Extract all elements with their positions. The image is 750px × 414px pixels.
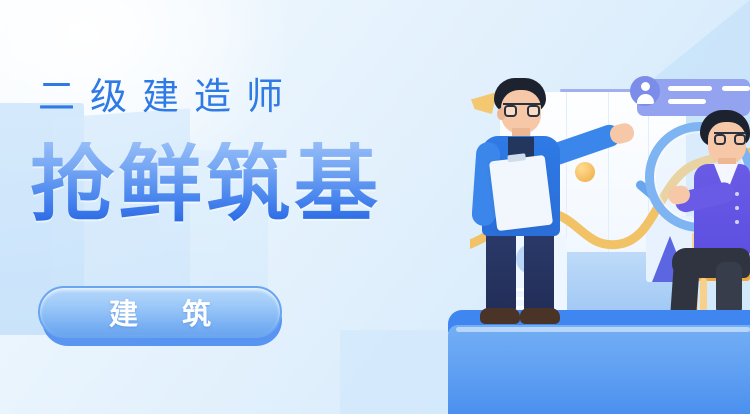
analyst-boot [664, 313, 697, 331]
cta-button-surface[interactable]: 建 筑 [38, 286, 282, 338]
analyst-collar [714, 164, 738, 186]
presenter-head [501, 90, 541, 134]
presenter-shoe [480, 308, 520, 324]
board-seam [566, 92, 567, 312]
banner-subtitle: 二级建造师 [36, 78, 298, 115]
magnifier-icon [645, 122, 750, 232]
presenter-arm-left [471, 141, 501, 226]
analyst-arm [673, 180, 736, 214]
cta-button[interactable]: 建 筑 [38, 286, 286, 348]
analyst-button [735, 220, 739, 224]
orange-stool [682, 268, 750, 281]
profile-card-line [722, 86, 750, 91]
clipboard-icon [489, 155, 553, 231]
pie-chart-card [509, 235, 567, 313]
analyst-button [735, 192, 739, 196]
presenter-legs [486, 228, 556, 316]
corner-wedge-shape [590, 0, 750, 130]
pie-chart-icon [516, 244, 546, 274]
card-rule [560, 89, 642, 92]
profile-card-line [668, 99, 706, 104]
stool-leg [700, 278, 707, 318]
analyst-button [735, 206, 739, 210]
board-seam [608, 92, 609, 312]
analyst-boot [712, 314, 744, 330]
presenter-pointing-hand [608, 121, 636, 145]
analyst-shin [670, 261, 700, 319]
analyst-neck [718, 158, 736, 170]
stage-platform-top [448, 310, 750, 332]
analyst-head [708, 122, 746, 164]
cta-button-label: 建 筑 [91, 291, 229, 333]
stand-pole [692, 232, 698, 318]
analyst-hair [700, 110, 750, 146]
bar-panel [560, 252, 688, 312]
presenter-neck [512, 128, 530, 142]
presenter-shoe [520, 308, 560, 324]
stage-highlight [456, 327, 750, 332]
profile-card-line [668, 86, 712, 91]
presenter-hair [494, 78, 546, 112]
gold-flag-accent [471, 92, 497, 114]
stage-platform-face [448, 325, 750, 414]
presenter-torso [482, 136, 560, 236]
analyst-lap [672, 248, 750, 278]
gold-growth-curve [470, 120, 750, 320]
banner-headline: 抢鲜筑基 [30, 142, 382, 226]
analyst-shin [716, 262, 742, 316]
board-seam [530, 92, 531, 312]
promo-banner: 二级建造师 抢鲜筑基 建 筑 [0, 0, 750, 414]
floor-strip [340, 330, 470, 414]
gold-ball-accent [575, 162, 595, 182]
presenter-leg [524, 228, 554, 312]
presenter-leg [486, 228, 516, 312]
mini-bar-lines [512, 288, 554, 315]
board-seam [648, 92, 649, 312]
analyst-torso [694, 164, 750, 256]
analyst-hand [667, 184, 692, 206]
presenter-glasses-icon [503, 103, 541, 117]
presentation-board [500, 92, 686, 312]
magnifier-handle [634, 179, 660, 203]
analyst-glasses-icon [714, 132, 746, 145]
avatar-icon [630, 76, 660, 106]
profile-card [637, 79, 750, 116]
presenter-shirt [508, 137, 534, 185]
triangle-chart-card [646, 216, 694, 282]
presenter-ear [497, 108, 506, 120]
presenter-arm-right [544, 122, 623, 168]
